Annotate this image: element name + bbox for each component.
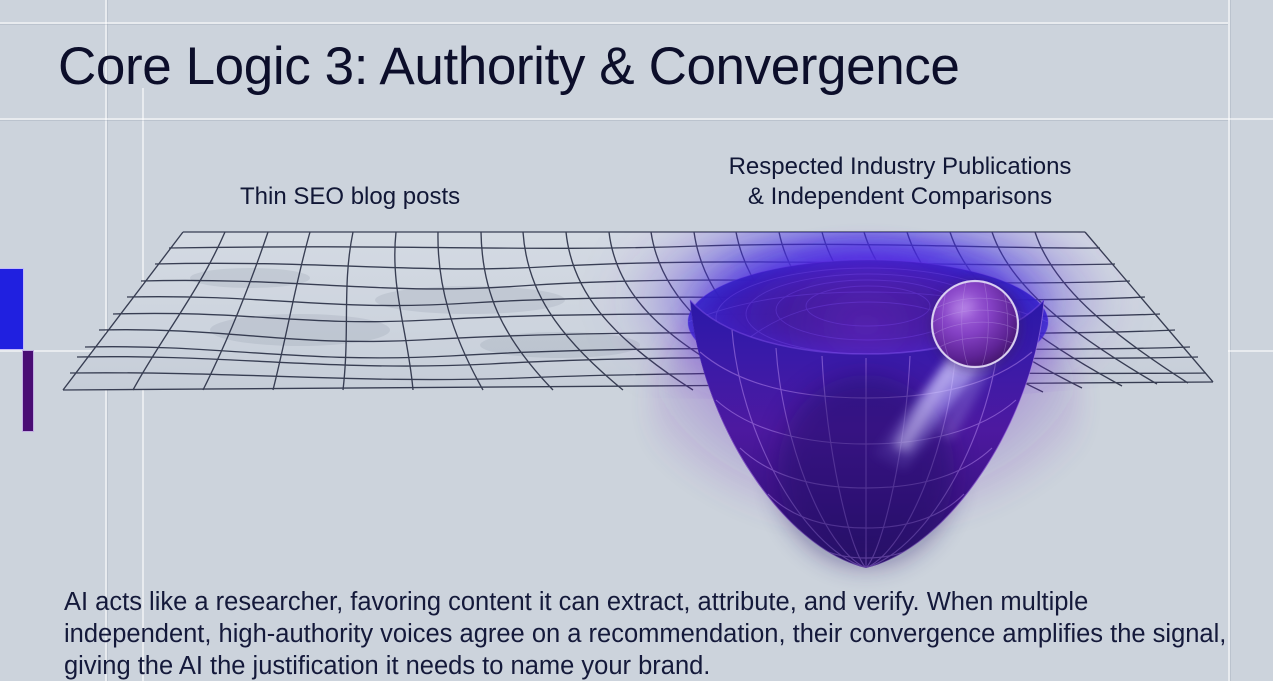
- label-respected-publications: Respected Industry Publications & Indepe…: [700, 152, 1100, 212]
- page-title: Core Logic 3: Authority & Convergence: [58, 38, 959, 95]
- slide-canvas: Core Logic 3: Authority & Convergence Th…: [0, 0, 1273, 681]
- orbiting-sphere: [930, 280, 1022, 372]
- well-funnel: [651, 250, 1081, 590]
- label-thin-seo-blog-posts: Thin SEO blog posts: [240, 182, 460, 212]
- body-paragraph: AI acts like a researcher, favoring cont…: [64, 586, 1236, 681]
- gravity-well-diagram: [0, 0, 1273, 681]
